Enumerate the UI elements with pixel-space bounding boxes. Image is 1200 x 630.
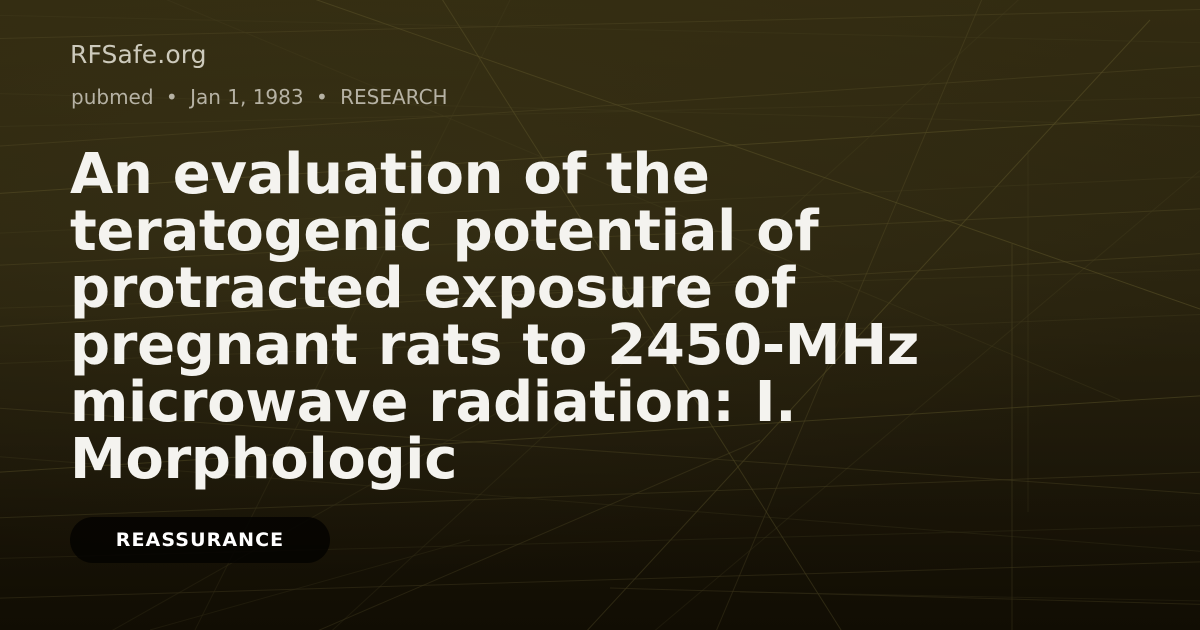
status-badge: REASSURANCE [70,517,330,563]
card-content: RFSafe.org pubmed • Jan 1, 1983 • RESEAR… [70,0,1130,630]
meta-separator-2: • [310,85,334,109]
meta-line: pubmed • Jan 1, 1983 • RESEARCH [71,84,448,110]
meta-category: RESEARCH [340,85,447,109]
status-badge-label: REASSURANCE [116,529,285,551]
page-title: An evaluation of the teratogenic potenti… [70,146,985,488]
meta-source: pubmed [71,85,154,109]
meta-date: Jan 1, 1983 [190,85,304,109]
social-share-card: RFSafe.org pubmed • Jan 1, 1983 • RESEAR… [0,0,1200,630]
meta-separator-1: • [160,85,184,109]
site-name: RFSafe.org [70,40,207,70]
